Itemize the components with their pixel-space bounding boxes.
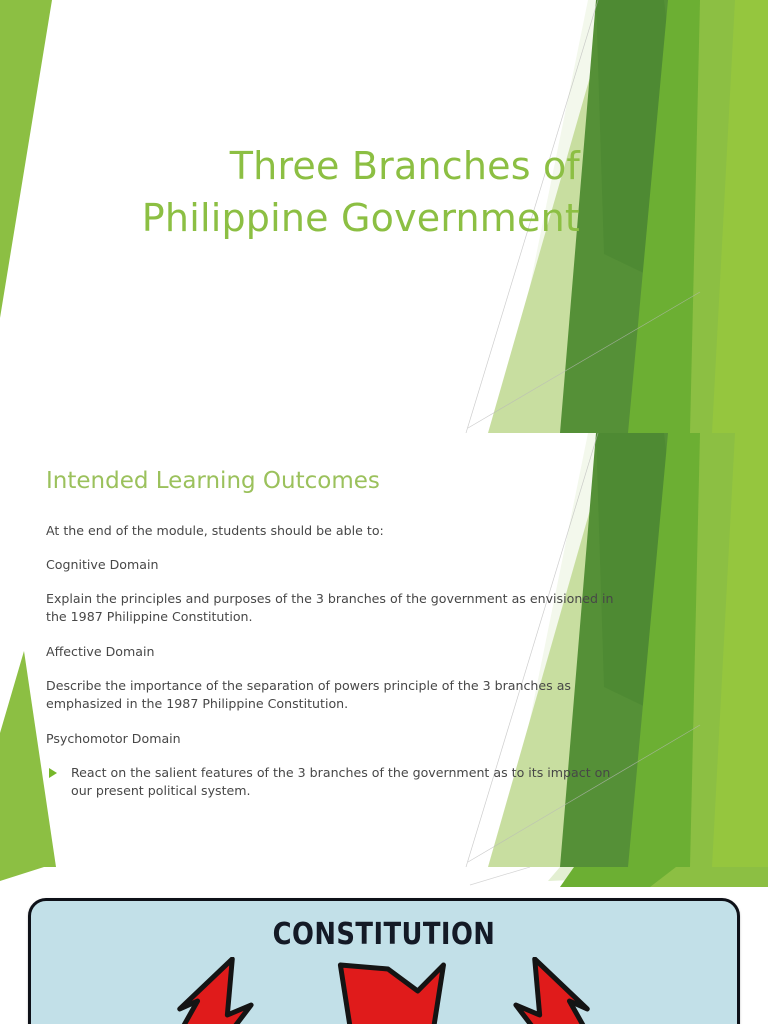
title-block: Three Branches of Philippine Government [60, 140, 580, 245]
deco-light-band [690, 0, 768, 433]
deco-light-accent [712, 433, 768, 867]
presentation-page: Three Branches of Philippine Government … [0, 0, 768, 1024]
ilo-intro: At the end of the module, students shoul… [46, 522, 614, 541]
arrow-right-branch-icon [516, 959, 609, 1024]
ilo-domain-text-affective: Describe the importance of the separatio… [46, 677, 614, 714]
triangle-bullet-icon [49, 768, 57, 778]
deco-dark-band-2 [596, 0, 700, 300]
deco-mid-band [628, 0, 768, 433]
constitution-diagram-box: CONSTITUTION [28, 898, 740, 1024]
deco-light-accent [712, 0, 768, 433]
branch-arrows-group [31, 957, 737, 1024]
slide-constitution-diagram: CONSTITUTION [0, 867, 768, 1024]
arrow-left-branch-icon [158, 959, 251, 1024]
deco-hairline-1 [470, 867, 530, 885]
slide-intended-learning-outcomes: Intended Learning Outcomes At the end of… [0, 433, 768, 867]
deco-dark-band [560, 0, 742, 433]
deco-top-right-dark [560, 867, 700, 887]
deco-left-wedge-tip [0, 867, 44, 881]
ilo-content: Intended Learning Outcomes At the end of… [46, 468, 614, 801]
deco-top-right-pale [548, 867, 620, 881]
ilo-bullet-text: React on the salient features of the 3 b… [71, 765, 610, 799]
ilo-heading: Intended Learning Outcomes [46, 468, 614, 496]
arrow-center-branch-icon [340, 965, 443, 1024]
ilo-domain-label-affective: Affective Domain [46, 643, 614, 662]
deco-left-wedge [0, 0, 52, 318]
deco-light-band [690, 433, 768, 867]
ilo-domain-label-cognitive: Cognitive Domain [46, 556, 614, 575]
page-title: Three Branches of Philippine Government [60, 140, 580, 245]
slide-title: Three Branches of Philippine Government [0, 0, 768, 433]
ilo-domain-label-psychomotor: Psychomotor Domain [46, 730, 614, 749]
constitution-heading: CONSTITUTION [80, 917, 687, 952]
ilo-domain-text-cognitive: Explain the principles and purposes of t… [46, 590, 614, 627]
deco-mid-band [628, 433, 768, 867]
ilo-bullet-item: React on the salient features of the 3 b… [46, 764, 614, 802]
deco-top-right-light [650, 867, 768, 887]
deco-hairline-2 [468, 292, 700, 428]
